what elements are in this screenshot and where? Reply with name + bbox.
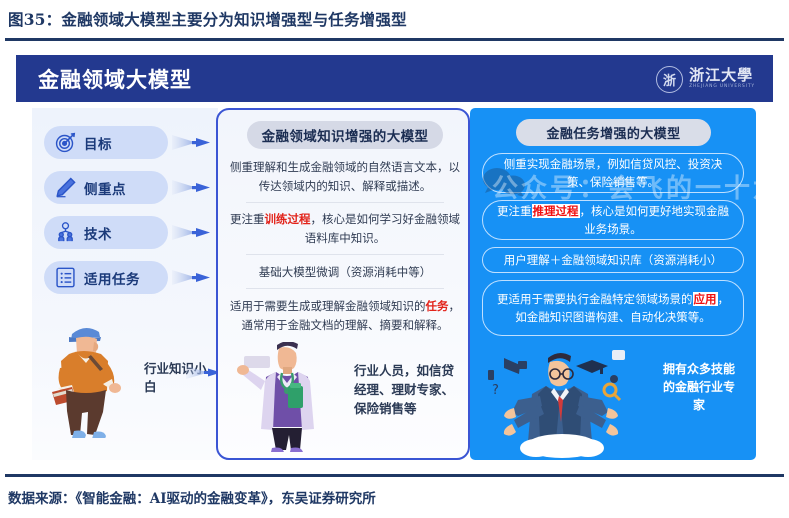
target-icon — [54, 131, 77, 154]
knowledge-enhanced-panel: 金融领域知识增强的大模型 侧重理解和生成金融领域的自然语言文本，以传达领域内的知… — [216, 108, 470, 460]
right-persona: ? — [474, 346, 754, 460]
category-pill-tasks[interactable]: 适用任务 — [44, 261, 168, 294]
category-label: 目标 — [84, 133, 112, 153]
top-divider-rule — [5, 38, 784, 41]
checklist-icon — [54, 266, 77, 289]
highlight-task: 任务 — [426, 299, 449, 313]
arrow-right-icon — [172, 223, 214, 242]
task-panel-heading: 金融任务增强的大模型 — [516, 119, 711, 146]
slide-header-bar: 金融领域大模型 浙 浙江大學 ZHEJIANG UNIVERSITY — [16, 55, 773, 102]
category-row-0: 目标 — [44, 126, 214, 160]
category-pill-focus[interactable]: 侧重点 — [44, 171, 168, 204]
category-label: 技术 — [84, 223, 112, 243]
svg-text:?: ? — [492, 383, 499, 398]
middle-persona-caption: 行业人员，如信贷经理、理财专家、保险销售等 — [354, 362, 458, 418]
highlight-inference-process: 推理过程 — [532, 204, 580, 218]
category-pill-goal[interactable]: 目标 — [44, 126, 168, 159]
task-enhanced-panel: 金融任务增强的大模型 侧重实现金融场景，例如信贷风控、投资决策、保险销售等。 更… — [470, 108, 756, 460]
figure-caption: 图35：金融领域大模型主要分为知识增强型与任务增强型 — [8, 8, 407, 30]
wechat-logo-icon — [482, 166, 526, 196]
bottom-divider-rule — [5, 474, 784, 477]
university-name-en: ZHEJIANG UNIVERSITY — [689, 85, 755, 89]
row-divider — [246, 254, 444, 255]
category-label: 适用任务 — [84, 268, 140, 288]
category-pill-technology[interactable]: 技术 — [44, 216, 168, 249]
middle-persona: 行业人员，如信贷经理、理财专家、保险销售等 — [224, 342, 466, 458]
left-persona: 行业知识小白 — [36, 318, 216, 456]
category-row-1: 侧重点 — [44, 171, 214, 205]
left-category-column: 目标 — [32, 108, 218, 460]
knowledge-row-technology: 基础大模型微调（资源消耗中等） — [227, 263, 463, 282]
professional-in-purple-lab-coat-illustration — [224, 342, 350, 454]
highlight-training-process: 训练过程 — [265, 212, 311, 226]
category-label: 侧重点 — [84, 178, 126, 198]
knowledge-panel-heading: 金融领域知识增强的大模型 — [247, 121, 443, 149]
category-row-2: 技术 — [44, 216, 214, 250]
highlight-application: 应用 — [693, 292, 718, 306]
pencil-icon — [54, 176, 77, 199]
standing-person-orange-sweater-illustration — [36, 318, 146, 438]
knowledge-row-focus: 更注重训练过程，核心是如何学习好金融领域语料库中知识。 — [227, 210, 463, 248]
row-divider — [246, 202, 444, 203]
arrow-right-icon — [172, 268, 214, 287]
arrow-right-icon — [172, 133, 214, 152]
row-divider — [246, 288, 444, 289]
slide-container: 金融领域大模型 浙 浙江大學 ZHEJIANG UNIVERSITY — [16, 55, 773, 467]
arrow-right-icon — [172, 178, 214, 197]
network-people-icon — [54, 221, 77, 244]
university-name-cn: 浙江大學 — [689, 68, 755, 83]
category-row-3: 适用任务 — [44, 261, 214, 295]
multi-armed-businessman-illustration: ? — [474, 346, 654, 458]
zhejiang-university-logo: 浙 浙江大學 ZHEJIANG UNIVERSITY — [656, 65, 755, 93]
task-row-focus: 更注重推理过程，核心是如何更好地实现金融业务场景。 — [482, 200, 744, 240]
figure-source: 数据来源：《智能金融：AI驱动的金融变革》，东吴证券研究所 — [8, 487, 376, 507]
task-row-technology: 用户理解＋金融领域知识库（资源消耗小） — [482, 247, 744, 273]
university-seal-icon: 浙 — [656, 66, 683, 93]
task-row-tasks: 更适用于需要执行金融特定领域场景的应用，如金融知识图谱构建、自动化决策等。 — [482, 280, 744, 336]
knowledge-row-goal: 侧重理解和生成金融领域的自然语言文本，以传达领域内的知识、解释或描述。 — [227, 158, 463, 196]
knowledge-row-tasks: 适用于需要生成或理解金融领域知识的任务，通常用于金融文档的理解、摘要和解释。 — [227, 297, 463, 335]
right-persona-caption: 拥有众多技能的金融行业专家 — [662, 360, 736, 414]
slide-title: 金融领域大模型 — [38, 64, 192, 94]
slide-body: 目标 — [16, 102, 773, 467]
